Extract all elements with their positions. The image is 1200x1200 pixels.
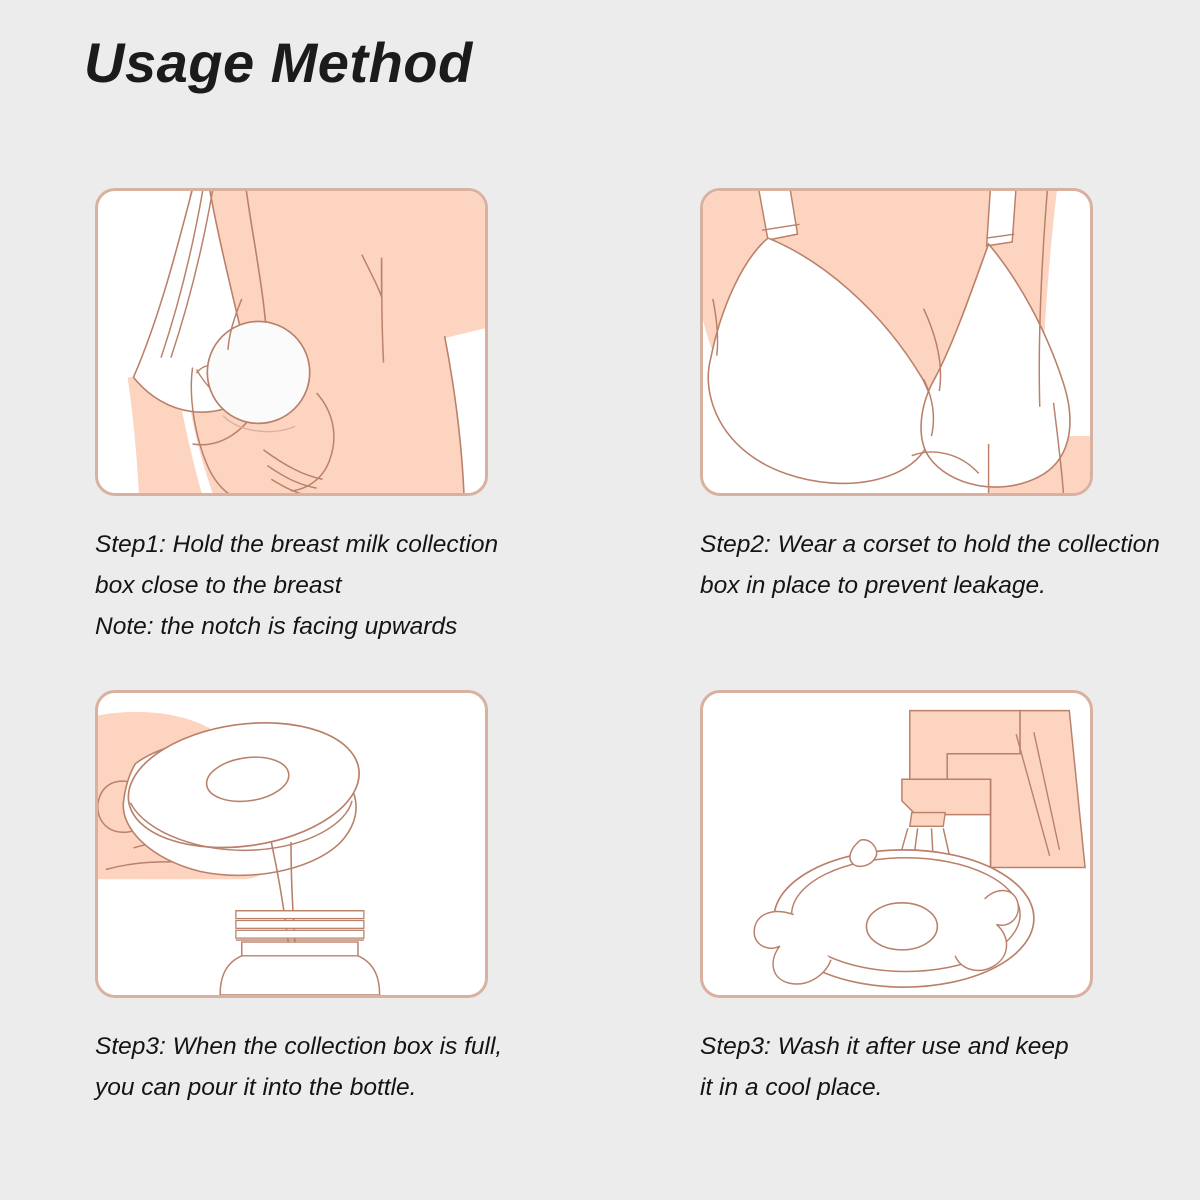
steps-grid: Step1: Hold the breast milk collection b… bbox=[0, 0, 1200, 1200]
step-card-1: Step1: Hold the breast milk collection b… bbox=[95, 188, 595, 647]
step-3-illustration bbox=[95, 690, 488, 998]
step-2-caption: Step2: Wear a corset to hold the collect… bbox=[700, 524, 1200, 606]
step-1-illustration bbox=[95, 188, 488, 496]
step-1-caption: Step1: Hold the breast milk collection b… bbox=[95, 524, 595, 647]
step-4-caption: Step3: Wash it after use and keep it in … bbox=[700, 1026, 1200, 1108]
step-card-2: Step2: Wear a corset to hold the collect… bbox=[700, 188, 1200, 606]
step-4-illustration bbox=[700, 690, 1093, 998]
usage-method-page: Usage Method bbox=[0, 0, 1200, 1200]
wash-under-faucet-icon bbox=[703, 693, 1090, 995]
breast-with-collection-box-icon bbox=[98, 191, 485, 493]
bra-corset-icon bbox=[703, 191, 1090, 493]
step-card-3: Step3: When the collection box is full, … bbox=[95, 690, 595, 1108]
step-card-4: Step3: Wash it after use and keep it in … bbox=[700, 690, 1200, 1108]
step-3-caption: Step3: When the collection box is full, … bbox=[95, 1026, 595, 1108]
step-2-illustration bbox=[700, 188, 1093, 496]
pour-into-bottle-icon bbox=[98, 693, 485, 995]
